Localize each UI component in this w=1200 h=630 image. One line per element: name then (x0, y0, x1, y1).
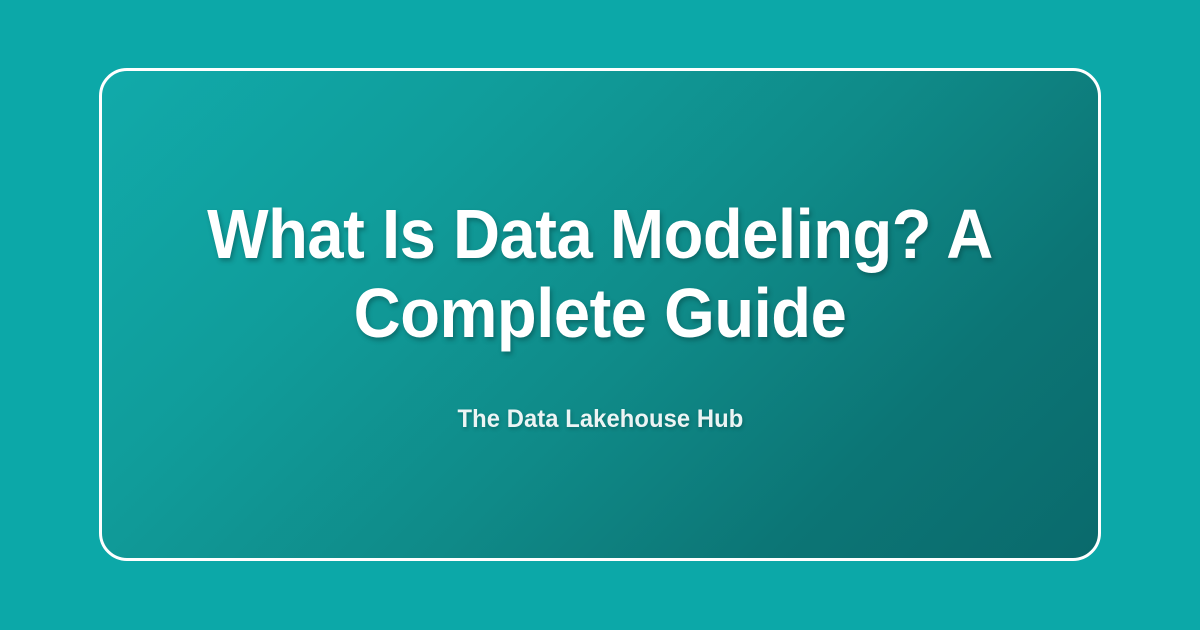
page-title: What Is Data Modeling? A Complete Guide (191, 195, 1009, 352)
content-card: What Is Data Modeling? A Complete Guide … (99, 68, 1101, 561)
social-card-canvas: What Is Data Modeling? A Complete Guide … (0, 0, 1200, 630)
card-content: What Is Data Modeling? A Complete Guide … (102, 195, 1098, 434)
site-name-subtitle: The Data Lakehouse Hub (457, 352, 743, 434)
